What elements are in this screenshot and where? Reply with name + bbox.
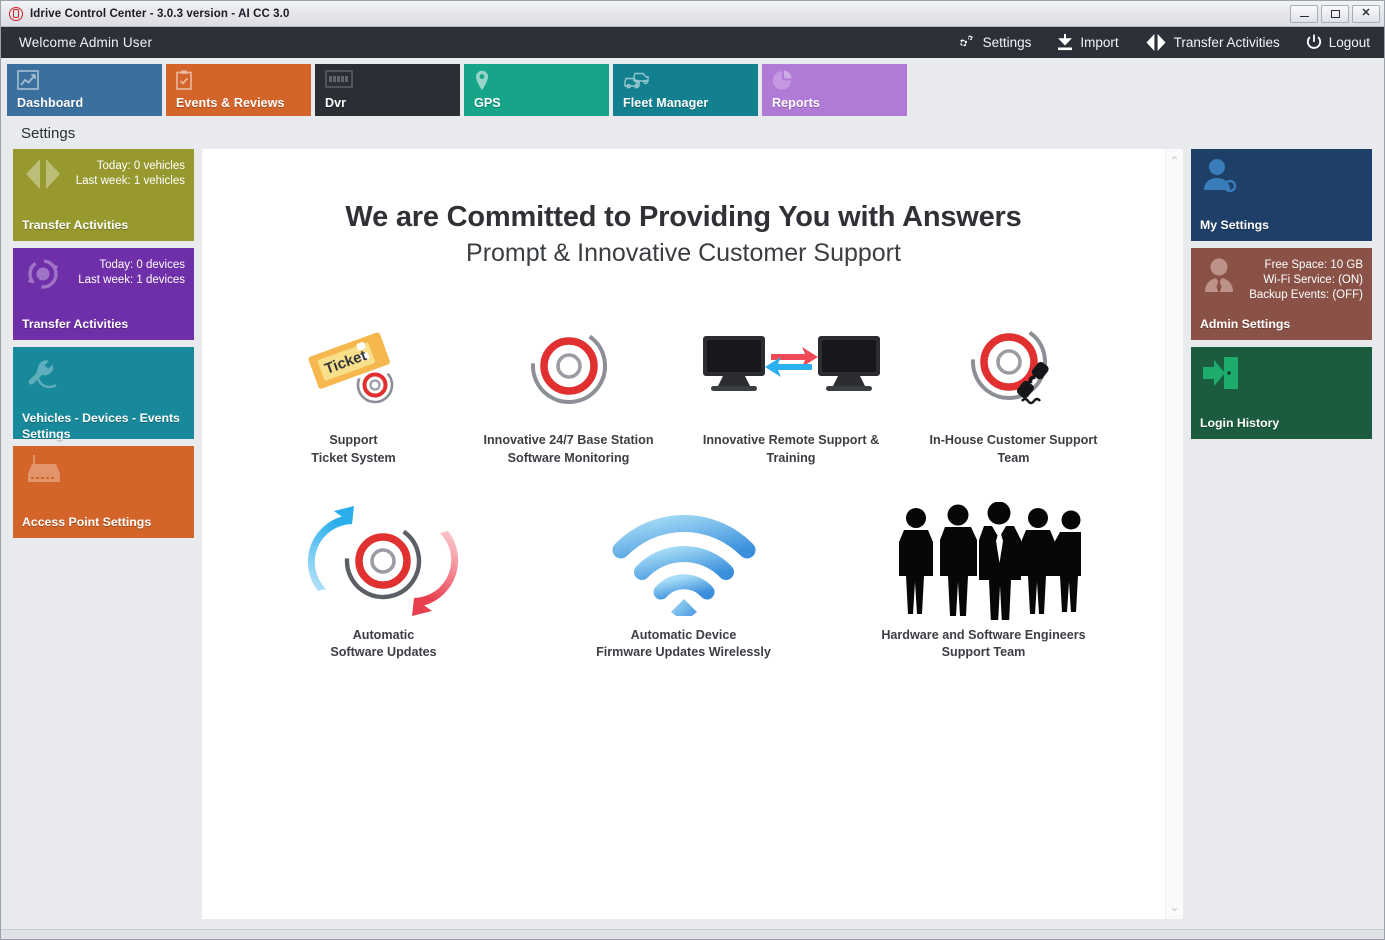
close-icon[interactable]: ✕ [1352, 5, 1380, 23]
tile-title: Admin Settings [1200, 317, 1363, 333]
tile-stats: Today: 0 devices Last week: 1 devices [78, 256, 185, 288]
target-phone-icon [964, 314, 1064, 418]
header-bar: Welcome Admin User Settings [1, 27, 1384, 58]
download-icon [1057, 34, 1073, 51]
tile-stat-line: Last week: 1 vehicles [76, 175, 185, 187]
main-tabs: Dashboard Events & Reviews Dvr GPS Fleet [1, 58, 1384, 116]
feature-firmware-updates-wireless: Automatic Device Firmware Updates Wirele… [534, 509, 834, 662]
vehicles-icon [623, 70, 748, 92]
tile-admin-settings[interactable]: Free Space: 10 GB Wi-Fi Service: (ON) Ba… [1191, 248, 1372, 340]
page-title: Settings [1, 116, 1384, 149]
tab-fleet-manager-label: Fleet Manager [623, 96, 748, 110]
window-title: Idrive Control Center - 3.0.3 version - … [30, 8, 289, 20]
status-bar [1, 929, 1384, 939]
feature-remote-support-training: Innovative Remote Support & Training [676, 314, 906, 467]
user-settings-icon [1200, 157, 1240, 200]
device-sync-icon [22, 256, 64, 297]
tab-fleet-manager[interactable]: Fleet Manager [613, 64, 758, 116]
tile-stat-line: Backup Events: (OFF) [1249, 289, 1363, 301]
content-subheading: Prompt & Innovative Customer Support [222, 239, 1145, 268]
chevron-up-icon[interactable]: ⌃ [1169, 155, 1179, 167]
tile-stats: Today: 0 vehicles Last week: 1 vehicles [76, 157, 185, 189]
feature-caption: Innovative 24/7 Base Station Software Mo… [483, 432, 653, 467]
header-import-button[interactable]: Import [1057, 34, 1118, 51]
tab-dashboard[interactable]: Dashboard [7, 64, 162, 116]
feature-caption: Support Ticket System [311, 432, 395, 467]
power-icon [1306, 34, 1322, 51]
tile-stat-line: Wi-Fi Service: (ON) [1263, 274, 1363, 286]
tile-login-history[interactable]: Login History [1191, 347, 1372, 439]
header-logout-label: Logout [1329, 35, 1370, 50]
feature-support-ticket-system: Ticket Support Ticket System [246, 314, 461, 467]
tab-dvr[interactable]: Dvr [315, 64, 460, 116]
tile-stat-line: Today: 0 devices [99, 259, 185, 271]
content-scrollbar[interactable]: ⌃ ⌄ [1165, 149, 1183, 919]
tab-dashboard-label: Dashboard [17, 96, 152, 110]
content-panel: We are Committed to Providing You with A… [202, 149, 1183, 919]
tile-stats: Free Space: 10 GB Wi-Fi Service: (ON) Ba… [1249, 256, 1363, 304]
two-monitors-arrows-icon [699, 314, 884, 418]
team-silhouette-icon [886, 509, 1081, 613]
login-door-icon [1200, 355, 1240, 396]
wifi-signal-icon [609, 509, 759, 613]
content-scroll-area: We are Committed to Providing You with A… [202, 149, 1165, 919]
feature-row-2: Automatic Software Updates [222, 509, 1145, 662]
tile-title: Transfer Activities [22, 218, 185, 234]
tab-reports-label: Reports [772, 96, 897, 110]
feature-caption: Automatic Software Updates [330, 627, 436, 662]
feature-caption: Automatic Device Firmware Updates Wirele… [596, 627, 771, 662]
tile-transfer-activities-devices[interactable]: Today: 0 devices Last week: 1 devices Tr… [13, 248, 194, 340]
header-actions: Settings Import Transf [957, 34, 1370, 51]
tile-access-point-settings[interactable]: Access Point Settings [13, 446, 194, 538]
feature-caption: Hardware and Software Engineers Support … [881, 627, 1085, 662]
map-pin-icon [474, 70, 599, 92]
chart-trend-icon [17, 70, 152, 92]
pie-chart-icon [772, 70, 897, 92]
header-import-label: Import [1080, 35, 1118, 50]
transfer-arrows-icon [1145, 34, 1167, 51]
admin-user-icon [1200, 256, 1238, 299]
tile-stat-line: Today: 0 vehicles [97, 160, 185, 172]
tile-stat-line: Free Space: 10 GB [1265, 259, 1363, 271]
maximize-icon[interactable] [1321, 5, 1349, 23]
tab-events-reviews[interactable]: Events & Reviews [166, 64, 311, 116]
content-heading: We are Committed to Providing You with A… [222, 201, 1145, 233]
feature-automatic-software-updates: Automatic Software Updates [234, 509, 534, 662]
clipboard-check-icon [176, 70, 301, 92]
feature-in-house-support-team: In-House Customer Support Team [906, 314, 1121, 467]
tile-title: Login History [1200, 416, 1363, 432]
tab-gps[interactable]: GPS [464, 64, 609, 116]
dvr-device-icon [325, 70, 450, 92]
tab-gps-label: GPS [474, 96, 599, 110]
tile-title: Vehicles - Devices - Events Settings [22, 411, 185, 442]
tile-transfer-activities-vehicles[interactable]: Today: 0 vehicles Last week: 1 vehicles … [13, 149, 194, 241]
minimize-icon[interactable] [1290, 5, 1318, 23]
header-transfer-label: Transfer Activities [1174, 35, 1280, 50]
transfer-arrows-icon [22, 157, 64, 196]
header-settings-button[interactable]: Settings [957, 34, 1032, 51]
tile-vehicles-devices-events-settings[interactable]: Vehicles - Devices - Events Settings [13, 347, 194, 439]
header-transfer-activities-button[interactable]: Transfer Activities [1145, 34, 1280, 51]
right-sidebar: My Settings Free Space: 10 GB Wi [1191, 149, 1372, 919]
tab-events-reviews-label: Events & Reviews [176, 96, 301, 110]
application-window: Idrive Control Center - 3.0.3 version - … [0, 0, 1385, 940]
idrive-logo-icon [9, 7, 23, 21]
tab-reports[interactable]: Reports [762, 64, 907, 116]
left-sidebar: Today: 0 vehicles Last week: 1 vehicles … [13, 149, 194, 919]
tile-title: Transfer Activities [22, 317, 185, 333]
router-icon [22, 454, 66, 493]
ticket-target-icon: Ticket [304, 314, 404, 418]
feature-row-1: Ticket Support Ticket System [222, 314, 1145, 467]
feature-hardware-software-engineers: Hardware and Software Engineers Support … [834, 509, 1134, 662]
header-logout-button[interactable]: Logout [1306, 34, 1370, 51]
tile-title: Access Point Settings [22, 515, 185, 531]
welcome-message: Welcome Admin User [19, 35, 152, 50]
header-settings-label: Settings [983, 35, 1032, 50]
tab-dvr-label: Dvr [325, 96, 450, 110]
page-body: Today: 0 vehicles Last week: 1 vehicles … [1, 149, 1384, 929]
feature-caption: Innovative Remote Support & Training [703, 432, 879, 467]
tile-title: My Settings [1200, 218, 1363, 234]
tile-my-settings[interactable]: My Settings [1191, 149, 1372, 241]
feature-caption: In-House Customer Support Team [930, 432, 1098, 467]
feature-base-station-monitoring: Innovative 24/7 Base Station Software Mo… [461, 314, 676, 467]
refresh-target-icon [296, 509, 471, 613]
tile-stat-line: Last week: 1 devices [78, 274, 185, 286]
chevron-down-icon[interactable]: ⌄ [1169, 901, 1179, 913]
target-rings-icon [524, 314, 614, 418]
wrench-icon [22, 355, 64, 396]
title-bar: Idrive Control Center - 3.0.3 version - … [1, 1, 1384, 27]
gears-icon [957, 34, 976, 51]
window-controls: ✕ [1290, 5, 1380, 23]
